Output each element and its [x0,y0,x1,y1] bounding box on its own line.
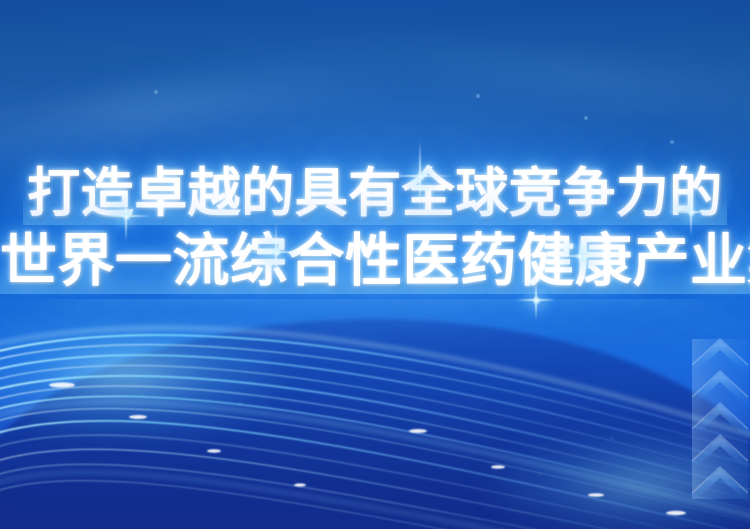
chevron-stack-icon [690,331,750,501]
headline-line-1-text: 打造卓越的具有全球竞争力的 [27,168,723,221]
ambient-dot [669,139,675,145]
ambient-dot [475,93,481,99]
ambient-dot [153,89,159,95]
headline-line-2: 世界一流综合性医药健康产业集团 [0,233,750,290]
wave-field [0,299,750,529]
banner-canvas: 打造卓越的具有全球竞争力的 世界一流综合性医药健康产业集团 [0,0,750,529]
ambient-dot [583,115,589,121]
light-streaks [0,299,750,529]
headline-block: 打造卓越的具有全球竞争力的 世界一流综合性医药健康产业集团 [0,168,750,290]
chevron-column [690,331,750,501]
light-streaks-svg [0,299,750,529]
headline-line-2-text: 世界一流综合性医药健康产业集团 [0,233,750,290]
headline-line-1: 打造卓越的具有全球竞争力的 [0,168,750,221]
